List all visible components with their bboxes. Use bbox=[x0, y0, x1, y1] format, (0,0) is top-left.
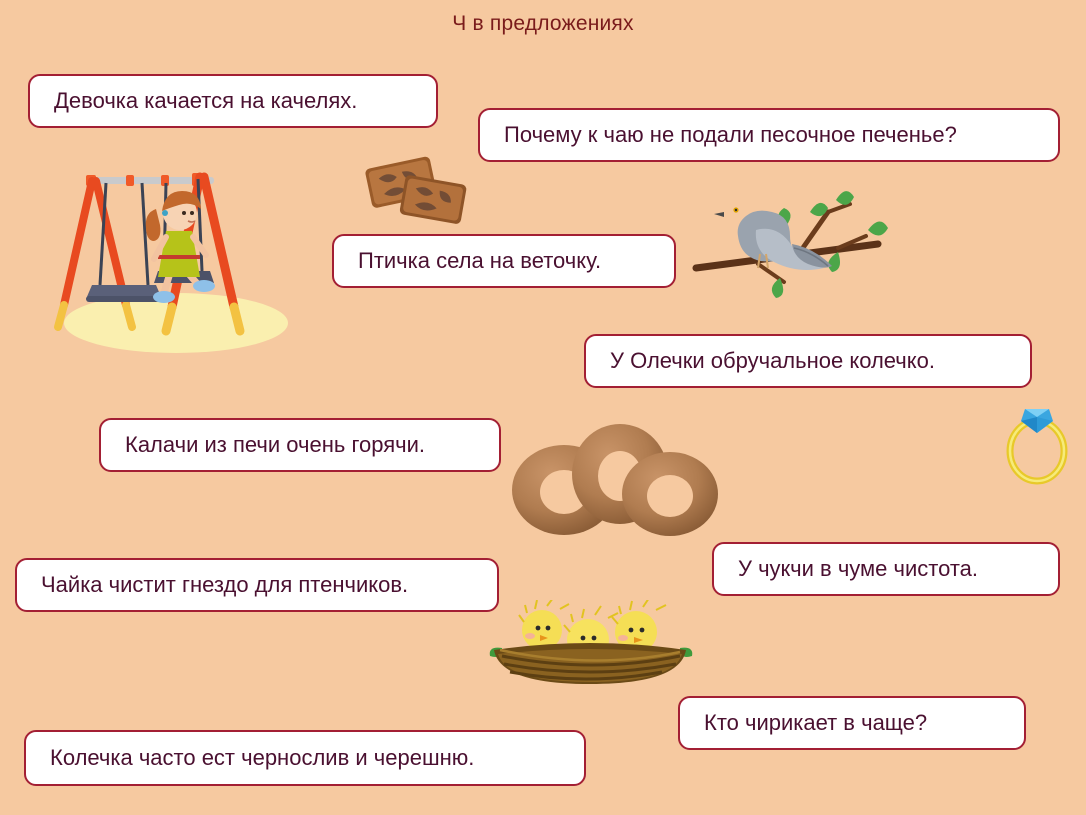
sentence-box-kolechka[interactable]: Колечка часто ест чернослив и черешню. bbox=[24, 730, 586, 786]
sentence-text-cookie: Почему к чаю не подали песочное печенье? bbox=[480, 123, 975, 147]
page-title: Ч в предложениях bbox=[0, 12, 1086, 36]
bird-on-branch-illustration bbox=[688, 186, 923, 301]
shortbread-cookies-illustration bbox=[357, 148, 477, 243]
sentence-text-kolechka: Колечка часто ест чернослив и черешню. bbox=[26, 746, 492, 770]
sentence-text-ring: У Олечки обручальное колечко. bbox=[586, 349, 953, 373]
sentence-box-cookie[interactable]: Почему к чаю не подали песочное печенье? bbox=[478, 108, 1060, 162]
sentence-text-chirp: Кто чирикает в чаще? bbox=[680, 711, 945, 735]
sentence-text-bird: Птичка села на веточку. bbox=[334, 249, 619, 273]
slide-canvas: Ч в предложениях bbox=[0, 0, 1086, 815]
sentence-box-swing[interactable]: Девочка качается на качелях. bbox=[28, 74, 438, 128]
sentence-box-kalachi[interactable]: Калачи из печи очень горячи. bbox=[99, 418, 501, 472]
sentence-box-gull[interactable]: Чайка чистит гнездо для птенчиков. bbox=[15, 558, 499, 612]
sentence-box-chirp[interactable]: Кто чирикает в чаще? bbox=[678, 696, 1026, 750]
sentence-text-swing: Девочка качается на качелях. bbox=[30, 89, 375, 113]
sentence-text-chukchi: У чукчи в чуме чистота. bbox=[714, 557, 996, 581]
sentence-box-ring[interactable]: У Олечки обручальное колечко. bbox=[584, 334, 1032, 388]
sentence-box-bird[interactable]: Птичка села на веточку. bbox=[332, 234, 676, 288]
sentence-text-gull: Чайка чистит гнездо для птенчиков. bbox=[17, 573, 426, 597]
bagel-rings-illustration bbox=[508, 418, 738, 543]
sentence-text-kalachi: Калачи из печи очень горячи. bbox=[101, 433, 443, 457]
swing-set-with-girl-illustration bbox=[48, 155, 308, 355]
gold-ring-with-gem-illustration bbox=[1003, 393, 1073, 488]
nest-with-chicks-illustration bbox=[484, 600, 696, 685]
sentence-box-chukchi[interactable]: У чукчи в чуме чистота. bbox=[712, 542, 1060, 596]
